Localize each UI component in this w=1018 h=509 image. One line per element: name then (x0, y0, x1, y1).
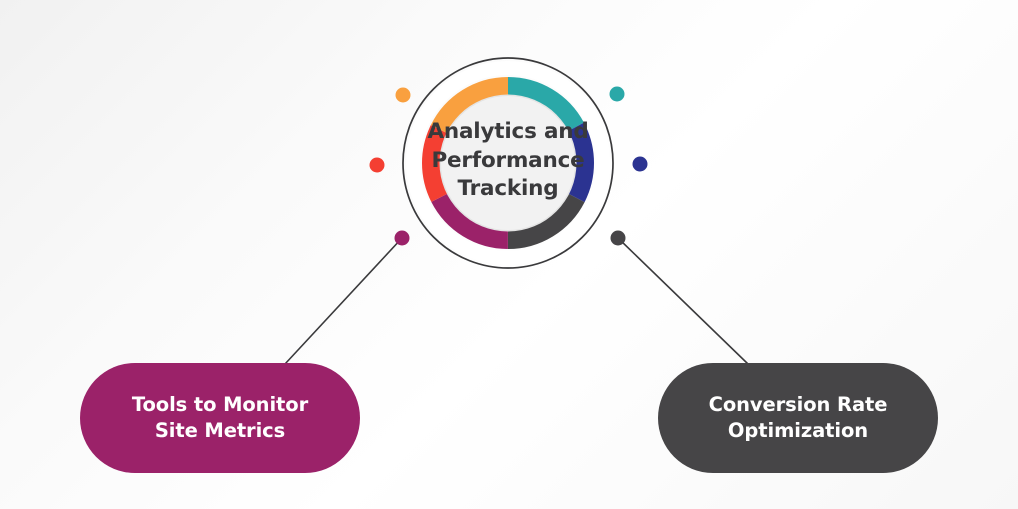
dot-gray-icon[interactable] (611, 231, 626, 246)
dot-navy-icon[interactable] (633, 157, 648, 172)
node-conversion-rate-optimization[interactable]: Conversion Rate Optimization (658, 363, 938, 473)
connector-line-left (285, 238, 402, 364)
dot-orange-icon[interactable] (396, 88, 411, 103)
dot-red-icon[interactable] (370, 158, 385, 173)
hub-inner-circle (441, 96, 575, 230)
node-tools-to-monitor-site-metrics[interactable]: Tools to Monitor Site Metrics (80, 363, 360, 473)
dot-teal-icon[interactable] (610, 87, 625, 102)
dot-magenta-icon[interactable] (395, 231, 410, 246)
node-label-left: Tools to Monitor Site Metrics (132, 392, 308, 443)
connector-line-right (618, 238, 748, 364)
node-label-right: Conversion Rate Optimization (709, 392, 888, 443)
diagram-canvas: Analytics and Performance Tracking Tools… (0, 0, 1018, 509)
